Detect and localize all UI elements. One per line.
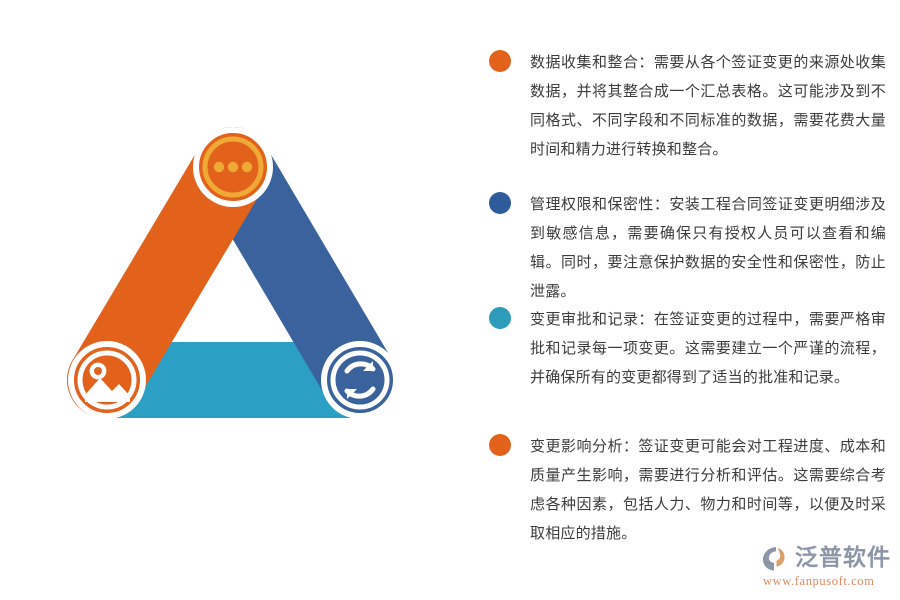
- diagram-panel: [0, 0, 470, 600]
- bullet-marker-wrap: [470, 48, 530, 72]
- bullet-text: 变更审批和记录：在签证变更的过程中，需要严格审批和记录每一项变更。这需要建立一个…: [530, 305, 900, 392]
- brand-logo-top: 泛普软件: [762, 543, 892, 573]
- page-root: 数据收集和整合：需要从各个签证变更的来源处收集数据，并将其整合成一个汇总表格。这…: [0, 0, 900, 600]
- brand-logo: 泛普软件 www.fanpusoft.com: [762, 543, 892, 591]
- bullet-dot-icon: [489, 50, 511, 72]
- fanpu-logo-mark-icon: [762, 545, 792, 572]
- bullet-marker-wrap: [470, 190, 530, 214]
- brand-name: 泛普软件: [795, 545, 891, 572]
- triangle-process-diagram: [55, 110, 415, 450]
- list-item: 变更审批和记录：在签证变更的过程中，需要严格审批和记录每一项变更。这需要建立一个…: [470, 305, 900, 392]
- bullet-text: 数据收集和整合：需要从各个签证变更的来源处收集数据，并将其整合成一个汇总表格。这…: [530, 48, 900, 164]
- list-item: 变更影响分析：签证变更可能会对工程进度、成本和质量产生影响，需要进行分析和评估。…: [470, 432, 900, 548]
- node-top[interactable]: [196, 130, 270, 204]
- bullets-panel: 数据收集和整合：需要从各个签证变更的来源处收集数据，并将其整合成一个汇总表格。这…: [470, 0, 900, 600]
- list-item: 管理权限和保密性：安装工程合同签证变更明细涉及到敏感信息，需要确保只有授权人员可…: [470, 190, 900, 306]
- bullet-marker-wrap: [470, 432, 530, 456]
- bullet-text: 管理权限和保密性：安装工程合同签证变更明细涉及到敏感信息，需要确保只有授权人员可…: [530, 190, 900, 306]
- bullet-dot-icon: [489, 434, 511, 456]
- list-item: 数据收集和整合：需要从各个签证变更的来源处收集数据，并将其整合成一个汇总表格。这…: [470, 48, 900, 164]
- bullet-dot-icon: [489, 307, 511, 329]
- bullet-text: 变更影响分析：签证变更可能会对工程进度、成本和质量产生影响，需要进行分析和评估。…: [530, 432, 900, 548]
- bullet-marker-wrap: [470, 305, 530, 329]
- brand-url: www.fanpusoft.com: [763, 574, 892, 589]
- bullet-dot-icon: [489, 192, 511, 214]
